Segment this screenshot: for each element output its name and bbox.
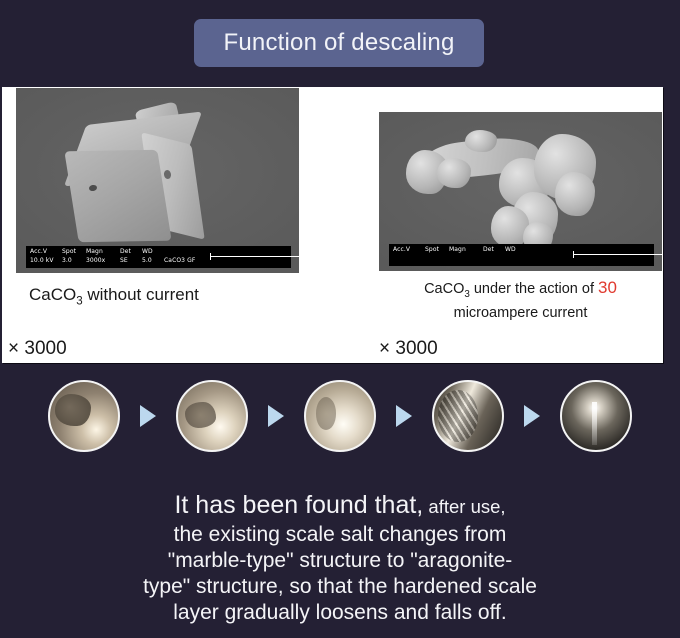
arrow-right-icon <box>140 405 156 427</box>
databar-header-magn: Magn <box>86 248 120 257</box>
caption-right-tail: microampere current <box>454 305 588 321</box>
databar-header-accv: Acc.V <box>30 248 62 257</box>
databar-header-accv: Acc.V <box>393 246 425 255</box>
scaled-pipe-stage-1 <box>48 380 120 452</box>
scale-bar-icon <box>573 251 662 258</box>
caption-left-formula: CaCO <box>29 285 76 304</box>
descaling-progression <box>48 379 632 453</box>
databar-header-wd: WD <box>142 248 164 257</box>
databar-header-det: Det <box>483 246 505 255</box>
conclusion-line4: type" structure, so that the hardened sc… <box>40 574 640 600</box>
sem-databar-right: Acc.V Spot Magn Det <box>389 244 654 266</box>
caption-right-formula: CaCO <box>424 281 464 297</box>
scaled-pipe-stage-4 <box>432 380 504 452</box>
scale-bar-icon <box>210 253 299 260</box>
figure-caco3-without-current: Acc.V 10.0 kV Spot 3.0 Magn 3000x Det SE <box>16 88 299 273</box>
arrow-right-icon <box>268 405 284 427</box>
databar-header-spot: Spot <box>62 248 86 257</box>
comparison-panel: Acc.V 10.0 kV Spot 3.0 Magn 3000x Det SE <box>2 87 663 363</box>
sem-databar-left: Acc.V 10.0 kV Spot 3.0 Magn 3000x Det SE <box>26 246 291 268</box>
databar-value-accv: 10.0 kV <box>30 257 62 266</box>
caption-left-suffix: without current <box>83 285 199 304</box>
sem-image-right: Acc.V Spot Magn Det <box>379 112 662 271</box>
figure-caco3-with-current: Acc.V Spot Magn Det <box>379 112 662 271</box>
magnification-label-right: × 3000 <box>379 338 438 360</box>
arrow-right-icon <box>524 405 540 427</box>
conclusion-line5: layer gradually loosens and falls off. <box>40 600 640 626</box>
page-title: Function of descaling <box>223 29 454 57</box>
databar-header-det: Det <box>120 248 142 257</box>
caption-right-mid: under the action of <box>470 281 598 297</box>
caption-right-current-value: 30 <box>598 278 617 297</box>
magnification-label-left: × 3000 <box>8 338 67 360</box>
caption-left: CaCO3 without current <box>29 285 199 311</box>
conclusion-line1-rest: after use, <box>423 496 505 517</box>
databar-value-wd: 5.0 <box>142 257 164 266</box>
databar-value-det: SE <box>120 257 142 266</box>
databar-header-magn: Magn <box>449 246 483 255</box>
databar-header-spot: Spot <box>425 246 449 255</box>
conclusion-line2: the existing scale salt changes from <box>40 522 640 548</box>
scaled-pipe-stage-2 <box>176 380 248 452</box>
title-banner: Function of descaling <box>194 19 484 67</box>
scaled-pipe-stage-3 <box>304 380 376 452</box>
scaled-pipe-stage-5 <box>560 380 632 452</box>
databar-value-magn: 3000x <box>86 257 120 266</box>
caption-right: CaCO3 under the action of 30 microampere… <box>379 278 662 323</box>
conclusion-line3: "marble-type" structure to "aragonite- <box>40 548 640 574</box>
arrow-right-icon <box>396 405 412 427</box>
databar-value-spot: 3.0 <box>62 257 86 266</box>
sem-image-left: Acc.V 10.0 kV Spot 3.0 Magn 3000x Det SE <box>16 88 299 273</box>
conclusion-line1-strong: It has been found that, <box>174 491 423 519</box>
databar-sample-label: CaCO3 GF <box>164 257 210 266</box>
databar-header-wd: WD <box>505 246 527 255</box>
conclusion-text: It has been found that, after use, the e… <box>40 492 640 626</box>
